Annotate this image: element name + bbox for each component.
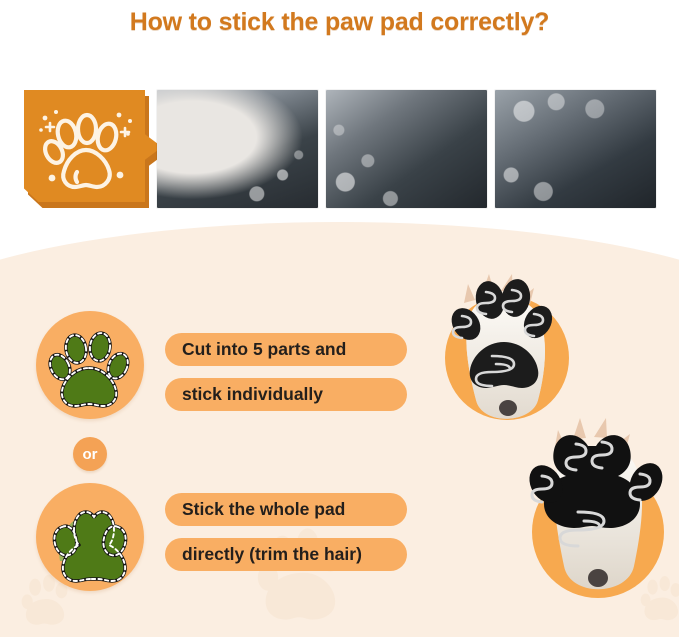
option-whole-icon-circle <box>36 483 144 591</box>
paw-photo-separate-pads <box>434 248 564 424</box>
paw-whole-pad-icon <box>36 483 144 591</box>
infographic-root: How to stick the paw pad correctly? <box>0 0 679 637</box>
option-whole-line-1: Stick the whole pad <box>165 493 407 526</box>
option-whole-line-2: directly (trim the hair) <box>165 538 407 571</box>
paw-photo-whole-pad <box>520 400 670 610</box>
or-divider-badge: or <box>73 437 107 471</box>
